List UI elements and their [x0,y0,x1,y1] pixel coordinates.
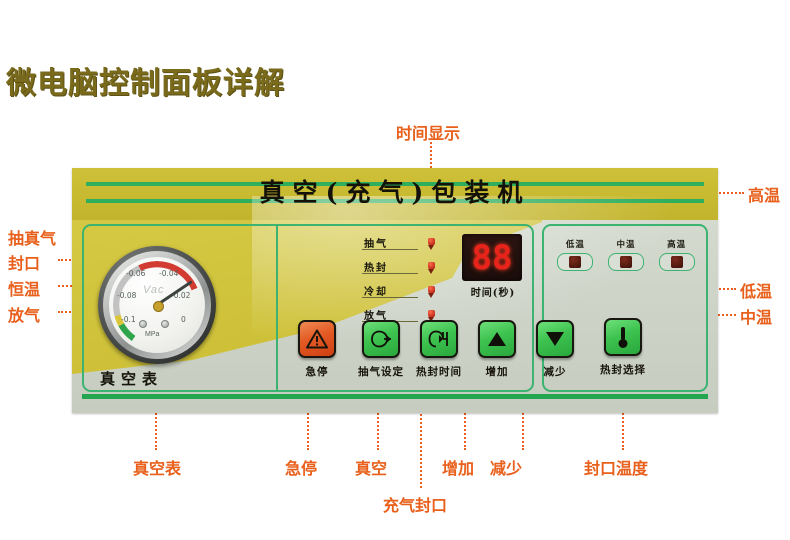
indicator-label: 冷却 [364,283,388,298]
indicator-underline [362,273,418,274]
indicator-led-icon [428,238,435,245]
callout-low-temp: 低温 [740,278,772,302]
vacuum-setting-label: 抽气设定 [349,364,413,379]
gauge-tick-minus-0-06: -0.06 [126,269,145,278]
arrow-down-icon [428,245,434,250]
vacuum-gauge-label: 真空表 [100,368,163,389]
seal-time-label: 热封时间 [407,364,471,379]
led-icon [620,256,632,268]
indicator-label: 抽气 [364,235,388,250]
vacuum-loop-icon [369,329,393,349]
temperature-led-pill [659,253,695,271]
gauge-face: Vac -0.1 -0.08 -0.06 -0.04 -0.02 0 MPa [109,257,205,353]
temperature-led-label: 低温 [553,238,597,250]
increase-label: 增加 [465,364,529,379]
callout-vacuum-gauge: 真空表 [133,455,181,479]
led-icon [671,256,683,268]
indicator-row-heat-seal: 热封 [364,258,448,282]
callout-vacuum-draw: 抽真气 [8,225,56,249]
triangle-down-icon [546,332,564,346]
vacuum-setting-button[interactable] [362,320,400,358]
callout-inflate-seal: 充气封口 [383,492,447,516]
callout-mid-temp: 中温 [740,304,772,328]
decrease-button[interactable] [536,320,574,358]
indicator-row-cooling: 冷却 [364,282,448,306]
vacuum-gauge: Vac -0.1 -0.08 -0.06 -0.04 -0.02 0 MPa [98,246,216,364]
time-display-digits: 88 [472,241,513,275]
callout-decrease: 减少 [490,455,522,479]
temperature-led-low: 低温 [553,238,597,271]
temperature-led-high: 高温 [655,238,699,271]
page-title: 微电脑控制面板详解 [6,58,285,102]
emergency-stop-label: 急停 [285,364,349,379]
gauge-unit-label: MPa [145,331,159,338]
seal-select-label: 热封选择 [591,362,655,377]
temperature-led-label: 中温 [604,238,648,250]
triangle-up-icon [488,332,506,346]
control-panel: 真空(充气)包装机 Vac -0.1 -0.08 -0.06 -0.04 -0.… [72,168,718,413]
seal-select-button[interactable] [604,318,642,356]
callout-high-temp: 高温 [748,182,780,206]
time-display-caption: 时间(秒) [456,284,530,299]
increase-button[interactable] [478,320,516,358]
indicator-led-icon [428,286,435,293]
led-icon [569,256,581,268]
temperature-led-pill [608,253,644,271]
callout-seal-temperature: 封口温度 [584,455,648,479]
temperature-led-group: 低温 中温 高温 [550,238,702,271]
gauge-tick-minus-0-08: -0.08 [117,291,136,300]
page-root: 微电脑控制面板详解 时间显示 抽真气 封口 恒温 放气 高温 低温 中温 真空表… [0,0,790,540]
gauge-brand-text: Vac [143,284,165,296]
emergency-stop-button[interactable] [298,320,336,358]
thermometer-icon [615,325,631,349]
temperature-led-mid: 中温 [604,238,648,271]
arrow-down-icon [428,293,434,298]
callout-vacuum: 真空 [355,455,387,479]
temperature-led-label: 高温 [655,238,699,250]
callout-seal: 封口 [8,250,40,274]
indicator-led-icon [428,310,435,317]
callout-time-display: 时间显示 [396,120,460,144]
indicator-underline [362,297,418,298]
panel-title: 真空(充气)包装机 [72,173,718,209]
temperature-led-pill [557,253,593,271]
arrow-down-icon [428,269,434,274]
gauge-screw-right [161,320,169,328]
gauge-screw-left [139,320,147,328]
gauge-tick-zero: 0 [181,315,186,324]
panel-stripe-bottom [82,394,708,399]
decrease-label: 减少 [523,364,587,379]
warning-triangle-icon [306,329,328,349]
panel-section-divider [276,226,278,390]
callout-increase: 增加 [442,455,474,479]
indicator-label: 热封 [364,259,388,274]
indicator-underline [362,249,418,250]
callout-constant-temp: 恒温 [8,276,40,300]
callout-release-air: 放气 [8,302,40,326]
callout-emergency-stop: 急停 [285,455,317,479]
gauge-hub [153,301,164,312]
seal-time-button[interactable] [420,320,458,358]
indicator-row-vacuum-draw: 抽气 [364,234,448,258]
status-indicator-list: 抽气 热封 冷却 放气 [364,234,448,330]
indicator-led-icon [428,262,435,269]
seal-loop-icon [427,329,451,349]
time-display: 88 [462,234,522,281]
gauge-tick-minus-0-04: -0.04 [159,269,178,278]
gauge-tick-minus-0-1: -0.1 [121,315,136,324]
